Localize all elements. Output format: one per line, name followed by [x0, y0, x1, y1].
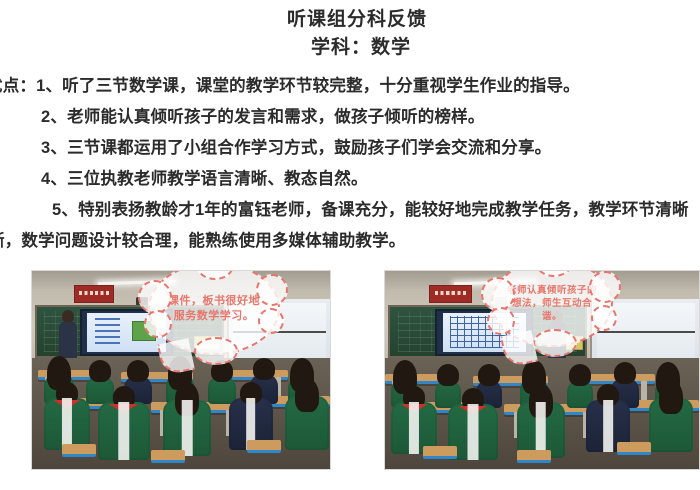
pupil-hair	[659, 380, 683, 414]
pupil	[44, 398, 90, 450]
bubble-lobe	[589, 271, 621, 303]
bubble-lobe	[138, 280, 172, 314]
uniform-stripe	[409, 402, 419, 454]
pupil-hair	[569, 364, 591, 386]
chair	[517, 450, 551, 463]
uniform-stripe	[603, 400, 613, 452]
pupil-hair	[253, 358, 275, 380]
pupil	[86, 376, 114, 404]
feedback-line-2: 2、老师能认真倾听孩子的发言和需求，做孩子倾听的榜样。	[0, 102, 700, 133]
pupil	[163, 400, 211, 456]
title-block: 听课组分科反馈 学科：数学	[0, 0, 700, 63]
bubble-lobe	[194, 337, 238, 365]
feedback-line-6: 晰，数学问题设计较合理，能熟练使用多媒体辅助教学。	[0, 226, 700, 257]
classroom-photo-left: 课件，板书很好地服务数学学习。	[31, 270, 331, 470]
bubble-lobe	[487, 307, 515, 335]
feedback-line-3: 3、三节课都运用了小组合作学习方式，鼓励孩子们学会交流和分享。	[0, 133, 700, 164]
uniform-stripe	[182, 400, 193, 456]
uniform-stripe	[62, 398, 72, 450]
pupil	[208, 376, 236, 404]
pupil-hair	[614, 362, 636, 384]
chair	[62, 444, 96, 457]
wall-banner	[74, 285, 115, 303]
bubble-lobe	[144, 310, 172, 338]
feedback-line-5: 5、特别表扬教龄才1年的富钰老师，备课充分，能较好地完成教学任务，教学环节清晰	[0, 195, 700, 226]
pupil-hair	[127, 360, 149, 382]
chair	[151, 450, 185, 463]
bubble-lobe	[535, 270, 573, 277]
chair	[423, 446, 457, 459]
pupil-hair	[89, 360, 111, 382]
wall-banner	[429, 285, 472, 303]
pupil-hair	[478, 364, 500, 386]
feedback-line-4: 4、三位执教老师教学语言清晰、教态自然。	[0, 164, 700, 195]
bubble-lobe	[591, 305, 617, 331]
bubble-lobe	[481, 277, 515, 311]
bubble-lobe	[533, 329, 577, 357]
pupil-hair	[437, 364, 459, 386]
pupil	[649, 398, 693, 452]
pupil-hair	[295, 378, 319, 412]
page-title: 听课组分科反馈	[14, 7, 700, 33]
photo-row: 课件，板书很好地服务数学学习。	[0, 270, 700, 471]
feedback-line-1: 优点：1、听了三节数学课，课堂的教学环节较完整，十分重视学生作业的指导。	[0, 71, 700, 102]
pupil	[98, 402, 150, 460]
bubble-lobe	[196, 270, 234, 280]
chair	[617, 442, 651, 455]
uniform-stripe	[467, 404, 478, 460]
uniform-stripe	[118, 402, 129, 460]
feedback-body: 优点：1、听了三节数学课，课堂的教学环节较完整，十分重视学生作业的指导。 2、老…	[0, 71, 700, 257]
pupil	[285, 396, 329, 450]
chair	[247, 440, 281, 453]
classroom-photo-right: 老师认真倾听孩子的想法，师生互动合谐。	[384, 270, 700, 470]
bubble-lobe	[256, 274, 288, 306]
subject-subtitle: 学科：数学	[22, 33, 700, 63]
bubble-lobe	[258, 308, 284, 334]
